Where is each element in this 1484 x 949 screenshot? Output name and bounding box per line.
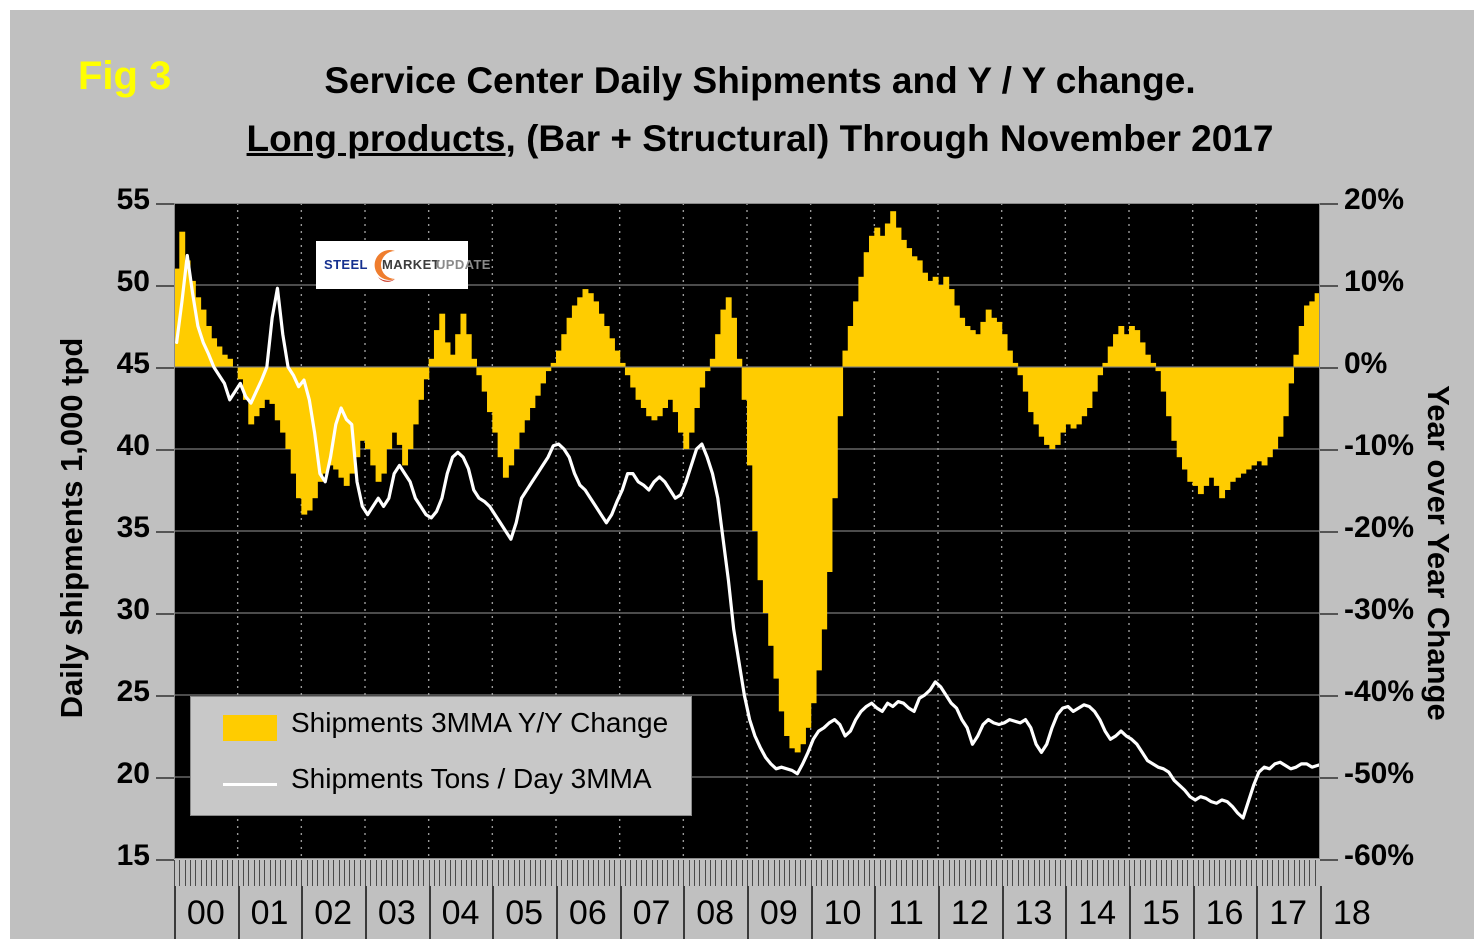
x-axis-month-tick	[349, 860, 350, 886]
x-axis-month-tick	[795, 860, 796, 886]
x-axis-month-tick	[721, 860, 722, 886]
x-axis-tick-label: 01	[240, 894, 300, 933]
y-axis-left-tick-mark	[156, 449, 174, 451]
x-axis-month-tick	[1225, 860, 1226, 886]
x-axis-month-tick	[227, 860, 228, 886]
x-axis-month-tick	[524, 860, 525, 886]
x-axis-month-tick	[365, 860, 366, 886]
y-axis-right-tick-label: 10%	[1344, 265, 1454, 299]
x-axis-month-tick	[323, 860, 324, 886]
y-axis-right-tick-mark	[1320, 777, 1338, 779]
y-axis-left-tick-label: 45	[90, 347, 150, 381]
x-axis-month-tick	[530, 860, 531, 886]
smu-word-update: UPDATE	[436, 257, 491, 272]
x-axis-tick-label: 00	[176, 894, 236, 933]
x-axis-month-tick	[386, 860, 387, 886]
x-axis-month-tick	[174, 860, 175, 886]
legend-item-line: Shipments Tons / Day 3MMA	[191, 759, 691, 809]
y-axis-left-tick-mark	[156, 285, 174, 287]
x-axis-month-tick	[673, 860, 674, 886]
y-axis-left-tick-mark	[156, 859, 174, 861]
x-axis-month-tick	[896, 860, 897, 886]
x-axis-month-tick	[1129, 860, 1130, 886]
x-axis-month-tick	[567, 860, 568, 886]
x-axis-month-tick	[800, 860, 801, 886]
x-axis-month-tick	[912, 860, 913, 886]
x-axis-month-tick	[620, 860, 621, 886]
y-axis-left-tick-label: 20	[90, 757, 150, 791]
x-axis-month-tick	[630, 860, 631, 886]
y-axis-right-tick-label: -30%	[1344, 593, 1454, 627]
x-axis-month-tick	[216, 860, 217, 886]
x-axis-tick-label: 11	[876, 894, 936, 933]
x-axis-month-tick	[805, 860, 806, 886]
x-axis-month-tick	[450, 860, 451, 886]
x-axis-month-tick	[201, 860, 202, 886]
x-axis-month-tick	[885, 860, 886, 886]
x-axis-month-tick	[487, 860, 488, 886]
x-axis-month-tick	[890, 860, 891, 886]
x-axis-month-tick	[344, 860, 345, 886]
x-axis-month-tick	[1060, 860, 1061, 886]
x-axis-month-tick	[821, 860, 822, 886]
x-axis-month-tick	[232, 860, 233, 886]
x-axis-month-tick	[986, 860, 987, 886]
y-axis-right-tick-mark	[1320, 613, 1338, 615]
x-axis-month-tick	[307, 860, 308, 886]
x-axis-month-tick	[1076, 860, 1077, 886]
x-axis-month-tick	[625, 860, 626, 886]
x-axis-month-tick	[556, 860, 557, 886]
x-axis-month-tick	[1309, 860, 1310, 886]
y-axis-right-tick-label: 0%	[1344, 347, 1454, 381]
x-axis-month-tick	[715, 860, 716, 886]
x-axis-month-tick	[789, 860, 790, 886]
x-axis-tick-label: 15	[1131, 894, 1191, 933]
y-axis-right-tick-mark	[1320, 285, 1338, 287]
y-axis-left-tick-label: 40	[90, 429, 150, 463]
x-axis-month-tick	[1071, 860, 1072, 886]
x-axis-month-tick	[943, 860, 944, 886]
x-axis-month-tick	[1118, 860, 1119, 886]
y-axis-left-title: Daily shipments 1,000 tpd	[54, 198, 90, 858]
x-axis-month-tick	[1012, 860, 1013, 886]
x-axis-month-tick	[683, 860, 684, 886]
x-axis-month-tick	[418, 860, 419, 886]
x-axis-tick-label: 10	[813, 894, 873, 933]
x-axis-month-tick	[1240, 860, 1241, 886]
x-axis-month-tick	[731, 860, 732, 886]
x-axis-month-tick	[1166, 860, 1167, 886]
x-axis-month-tick	[238, 860, 239, 886]
y-axis-right-tick-label: 20%	[1344, 183, 1454, 217]
x-axis-month-tick	[1214, 860, 1215, 886]
x-axis-month-tick	[471, 860, 472, 886]
x-axis-month-tick	[742, 860, 743, 886]
x-axis-month-tick	[1145, 860, 1146, 886]
x-axis-month-tick	[1097, 860, 1098, 886]
x-axis-month-tick	[376, 860, 377, 886]
x-axis-month-tick	[312, 860, 313, 886]
x-axis-month-tick	[1124, 860, 1125, 886]
x-axis-month-tick	[1065, 860, 1066, 886]
x-axis-month-tick	[296, 860, 297, 886]
x-axis-month-tick	[774, 860, 775, 886]
x-axis-month-tick	[699, 860, 700, 886]
x-axis-month-tick	[1103, 860, 1104, 886]
x-axis-month-tick	[1251, 860, 1252, 886]
x-axis-month-tick	[572, 860, 573, 886]
x-axis-month-tick	[317, 860, 318, 886]
x-axis-month-tick	[1023, 860, 1024, 886]
x-axis-month-tick	[1171, 860, 1172, 886]
x-axis-month-tick	[1092, 860, 1093, 886]
x-axis-month-tick	[577, 860, 578, 886]
x-axis-month-tick	[413, 860, 414, 886]
x-axis-month-tick	[397, 860, 398, 886]
y-axis-left-tick-mark	[156, 531, 174, 533]
x-axis-month-tick	[190, 860, 191, 886]
x-axis-month-tick	[604, 860, 605, 886]
x-axis-month-tick	[1039, 860, 1040, 886]
x-axis-month-tick	[938, 860, 939, 886]
x-axis-month-tick	[784, 860, 785, 886]
x-axis-month-tick	[1081, 860, 1082, 886]
x-axis-month-tick	[588, 860, 589, 886]
x-axis-tick-label: 05	[494, 894, 554, 933]
x-axis-month-tick	[858, 860, 859, 886]
x-axis-month-tick	[1028, 860, 1029, 886]
y-axis-left-tick-label: 30	[90, 593, 150, 627]
x-axis-tick-label: 12	[940, 894, 1000, 933]
x-axis-tick-label: 08	[685, 894, 745, 933]
x-axis-month-tick	[609, 860, 610, 886]
x-axis-month-tick	[328, 860, 329, 886]
y-axis-left-tick-mark	[156, 203, 174, 205]
x-axis-tick-label: 02	[303, 894, 363, 933]
x-axis-month-tick	[763, 860, 764, 886]
x-axis-month-tick	[954, 860, 955, 886]
x-axis-month-tick	[1246, 860, 1247, 886]
x-axis-month-tick	[275, 860, 276, 886]
x-axis-month-tick	[259, 860, 260, 886]
x-axis-month-tick	[736, 860, 737, 886]
x-axis-tick-label: 13	[1004, 894, 1064, 933]
x-axis-month-tick	[360, 860, 361, 886]
x-axis-month-tick	[1140, 860, 1141, 886]
y-axis-left-tick-mark	[156, 367, 174, 369]
x-axis-month-tick	[1209, 860, 1210, 886]
x-axis-month-tick	[747, 860, 748, 886]
x-axis-month-tick	[1262, 860, 1263, 886]
smu-word-steel: STEEL	[324, 257, 368, 272]
x-axis-tick-label: 07	[622, 894, 682, 933]
x-axis-month-tick	[678, 860, 679, 886]
x-axis-tick-label: 03	[367, 894, 427, 933]
x-axis-month-tick	[811, 860, 812, 886]
x-axis-month-tick	[853, 860, 854, 886]
x-axis-month-tick	[1278, 860, 1279, 886]
x-axis-month-tick	[652, 860, 653, 886]
x-axis-tick-label: 16	[1195, 894, 1255, 933]
x-axis-month-tick	[270, 860, 271, 886]
x-axis-month-tick	[837, 860, 838, 886]
x-axis-month-tick	[482, 860, 483, 886]
y-axis-left-tick-label: 35	[90, 511, 150, 545]
x-axis-month-tick	[248, 860, 249, 886]
x-axis-month-tick	[333, 860, 334, 886]
y-axis-right-tick-label: -40%	[1344, 675, 1454, 709]
x-axis-month-tick	[455, 860, 456, 886]
x-axis-month-tick	[1156, 860, 1157, 886]
x-axis-month-tick	[1055, 860, 1056, 886]
x-axis-month-tick	[705, 860, 706, 886]
x-axis-month-tick	[970, 860, 971, 886]
x-axis-month-tick	[429, 860, 430, 886]
y-axis-right-tick-mark	[1320, 367, 1338, 369]
y-axis-left-tick-mark	[156, 777, 174, 779]
x-axis-month-tick	[291, 860, 292, 886]
x-axis-month-tick	[922, 860, 923, 886]
x-axis-month-tick	[1315, 860, 1316, 886]
x-axis-month-tick	[1304, 860, 1305, 886]
x-axis-month-tick	[508, 860, 509, 886]
x-axis-month-tick	[1177, 860, 1178, 886]
y-axis-left-tick-label: 25	[90, 675, 150, 709]
y-axis-right-tick-label: -10%	[1344, 429, 1454, 463]
x-axis-month-tick	[185, 860, 186, 886]
x-axis-month-tick	[1044, 860, 1045, 886]
x-axis-month-tick	[492, 860, 493, 886]
x-axis-month-tick	[662, 860, 663, 886]
x-axis-month-tick	[1219, 860, 1220, 886]
y-axis-right-tick-mark	[1320, 449, 1338, 451]
x-axis-month-tick	[381, 860, 382, 886]
x-axis-month-tick	[1150, 860, 1151, 886]
x-axis-month-tick	[206, 860, 207, 886]
x-axis-month-tick	[354, 860, 355, 886]
x-axis-month-tick	[370, 860, 371, 886]
chart-page: Fig 3 Service Center Daily Shipments and…	[0, 0, 1484, 949]
x-axis-month-tick	[1182, 860, 1183, 886]
x-axis-month-tick	[917, 860, 918, 886]
x-axis-month-tick	[949, 860, 950, 886]
x-axis-month-tick	[657, 860, 658, 886]
x-axis-month-tick	[1134, 860, 1135, 886]
x-axis-month-tick	[1002, 860, 1003, 886]
x-axis-month-tick	[864, 860, 865, 886]
x-axis-month-tick	[816, 860, 817, 886]
x-axis-month-tick	[301, 860, 302, 886]
x-axis-month-tick	[407, 860, 408, 886]
x-axis-month-tick	[1087, 860, 1088, 886]
x-axis-month-tick	[540, 860, 541, 886]
x-axis-month-tick	[927, 860, 928, 886]
x-axis-month-tick	[339, 860, 340, 886]
x-axis-month-tick	[285, 860, 286, 886]
x-axis-month-tick	[906, 860, 907, 886]
x-axis-month-tick	[1256, 860, 1257, 886]
x-axis-month-tick	[598, 860, 599, 886]
x-axis-month-tick	[1161, 860, 1162, 886]
x-axis-month-tick	[498, 860, 499, 886]
x-axis-tick-label: 14	[1067, 894, 1127, 933]
chart-title-line-2: Long products, (Bar + Structural) Throug…	[160, 118, 1360, 160]
x-axis-tick-label: 18	[1322, 894, 1382, 933]
x-axis-month-tick	[614, 860, 615, 886]
x-axis-month-tick	[1198, 860, 1199, 886]
y-axis-right-tick-mark	[1320, 859, 1338, 861]
x-axis-month-tick	[1283, 860, 1284, 886]
x-axis-month-tick	[827, 860, 828, 886]
x-axis-month-tick	[991, 860, 992, 886]
x-axis-month-tick	[779, 860, 780, 886]
legend-swatch-line	[223, 783, 277, 786]
legend-item-bars: Shipments 3MMA Y/Y Change	[191, 703, 691, 753]
x-axis-month-tick	[1034, 860, 1035, 886]
x-axis-month-tick	[1272, 860, 1273, 886]
x-axis-month-tick	[869, 860, 870, 886]
x-axis-month-tick	[848, 860, 849, 886]
x-axis-month-tick	[179, 860, 180, 886]
chart-title-emphasis: Long products	[247, 118, 506, 159]
x-axis-month-tick	[476, 860, 477, 886]
x-axis-month-tick	[392, 860, 393, 886]
y-axis-right-tick-label: -20%	[1344, 511, 1454, 545]
x-axis-month-tick	[1267, 860, 1268, 886]
x-axis-month-tick	[901, 860, 902, 886]
x-axis-month-tick	[195, 860, 196, 886]
x-axis-month-tick	[646, 860, 647, 886]
x-axis-month-tick	[402, 860, 403, 886]
x-axis-month-tick	[445, 860, 446, 886]
x-axis-month-tick	[545, 860, 546, 886]
smu-word-market: MARKET	[382, 257, 440, 272]
x-axis-month-tick	[503, 860, 504, 886]
x-axis-month-tick	[832, 860, 833, 886]
chart-legend: Shipments 3MMA Y/Y Change Shipments Tons…	[190, 696, 692, 816]
x-axis-tick-label: 17	[1258, 894, 1318, 933]
x-axis-month-tick	[535, 860, 536, 886]
x-axis-month-tick	[758, 860, 759, 886]
x-axis-month-tick	[1007, 860, 1008, 886]
x-axis-month-tick	[1113, 860, 1114, 886]
x-axis-month-tick	[710, 860, 711, 886]
x-axis-month-tick	[1193, 860, 1194, 886]
x-axis-month-tick	[514, 860, 515, 886]
x-axis-month-tick	[1288, 860, 1289, 886]
x-axis-month-tick	[423, 860, 424, 886]
x-axis-month-tick	[211, 860, 212, 886]
x-axis-month-tick	[768, 860, 769, 886]
y-axis-left-tick-mark	[156, 613, 174, 615]
x-axis-month-tick	[726, 860, 727, 886]
x-axis-month-tick	[583, 860, 584, 886]
x-axis-month-tick	[439, 860, 440, 886]
x-axis-month-tick	[254, 860, 255, 886]
x-axis-month-tick	[933, 860, 934, 886]
y-axis-left-tick-label: 15	[90, 839, 150, 873]
x-axis-month-tick	[1203, 860, 1204, 886]
x-axis-month-tick	[1049, 860, 1050, 886]
x-axis-month-tick	[874, 860, 875, 886]
x-axis-month-tick	[466, 860, 467, 886]
x-axis-tick-label: 09	[749, 894, 809, 933]
x-axis-month-tick	[264, 860, 265, 886]
x-axis-minor-ticks	[174, 860, 1320, 886]
steel-market-update-logo: STEEL MARKET UPDATE	[316, 241, 468, 289]
x-axis-month-tick	[593, 860, 594, 886]
x-axis-month-tick	[965, 860, 966, 886]
x-axis-tick-label: 06	[558, 894, 618, 933]
x-axis-month-tick	[1018, 860, 1019, 886]
chart-title-line-1: Service Center Daily Shipments and Y / Y…	[160, 60, 1360, 102]
y-axis-left-tick-mark	[156, 695, 174, 697]
legend-label-bar: Shipments 3MMA Y/Y Change	[291, 707, 668, 739]
y-axis-right-tick-mark	[1320, 531, 1338, 533]
x-axis-month-tick	[975, 860, 976, 886]
x-axis-month-tick	[959, 860, 960, 886]
y-axis-right-tick-label: -50%	[1344, 757, 1454, 791]
legend-swatch-bar	[223, 715, 277, 741]
x-axis-month-tick	[996, 860, 997, 886]
figure-label: Fig 3	[78, 54, 171, 99]
x-axis-month-tick	[461, 860, 462, 886]
x-axis-month-tick	[752, 860, 753, 886]
x-axis-month-tick	[280, 860, 281, 886]
x-axis-month-tick	[1299, 860, 1300, 886]
x-axis-month-tick	[980, 860, 981, 886]
x-axis-month-tick	[667, 860, 668, 886]
y-axis-right-tick-mark	[1320, 203, 1338, 205]
x-axis-month-tick	[1108, 860, 1109, 886]
x-axis-month-tick	[222, 860, 223, 886]
y-axis-right-tick-label: -60%	[1344, 839, 1454, 873]
x-axis-tick-label: 04	[431, 894, 491, 933]
x-axis-month-tick	[243, 860, 244, 886]
x-axis-month-tick	[1294, 860, 1295, 886]
x-axis-month-tick	[519, 860, 520, 886]
x-axis-month-tick	[434, 860, 435, 886]
x-axis-month-tick	[689, 860, 690, 886]
x-axis-month-tick	[1230, 860, 1231, 886]
x-axis-month-tick	[694, 860, 695, 886]
x-axis-month-tick	[843, 860, 844, 886]
legend-label-line: Shipments Tons / Day 3MMA	[291, 763, 652, 795]
x-axis-month-tick	[636, 860, 637, 886]
y-axis-left-tick-label: 50	[90, 265, 150, 299]
x-axis-month-tick	[561, 860, 562, 886]
x-axis-month-tick	[1187, 860, 1188, 886]
x-axis-month-tick	[551, 860, 552, 886]
x-axis-month-tick	[880, 860, 881, 886]
chart-title-rest: , (Bar + Structural) Through November 20…	[506, 118, 1274, 159]
x-axis-month-tick	[1235, 860, 1236, 886]
y-axis-right-tick-mark	[1320, 695, 1338, 697]
x-axis-month-tick	[641, 860, 642, 886]
y-axis-left-tick-label: 55	[90, 183, 150, 217]
